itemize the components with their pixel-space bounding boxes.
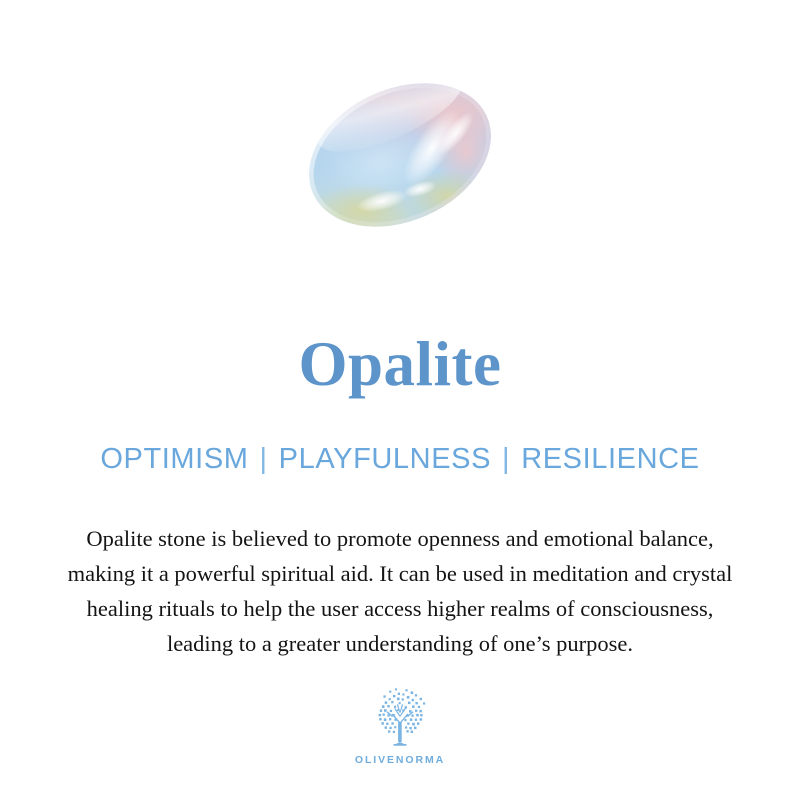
- stone-image-container: [0, 60, 800, 250]
- tree-icon: [367, 686, 433, 752]
- page-title: Opalite: [0, 333, 800, 396]
- brand-logo: OLIVENORMA: [0, 686, 800, 766]
- brand-name: OLIVENORMA: [0, 754, 800, 766]
- description-line: leading to a greater understanding of on…: [0, 626, 800, 661]
- keyword-separator: |: [249, 443, 279, 475]
- description-line: making it a powerful spiritual aid. It c…: [0, 556, 800, 591]
- keyword-separator: |: [491, 443, 521, 475]
- keyword-resilience: RESILIENCE: [521, 443, 699, 475]
- keyword-list: OPTIMISM|PLAYFULNESS|RESILIENCE: [0, 444, 800, 476]
- opalite-cabochon-icon: [270, 60, 530, 250]
- description-line: healing rituals to help the user access …: [0, 591, 800, 626]
- keyword-playfulness: PLAYFULNESS: [279, 443, 491, 475]
- description-line: Opalite stone is believed to promote ope…: [0, 521, 800, 556]
- description-text: Opalite stone is believed to promote ope…: [0, 521, 800, 661]
- keyword-optimism: OPTIMISM: [100, 443, 248, 475]
- opalite-info-card: Opalite OPTIMISM|PLAYFULNESS|RESILIENCE …: [0, 0, 800, 800]
